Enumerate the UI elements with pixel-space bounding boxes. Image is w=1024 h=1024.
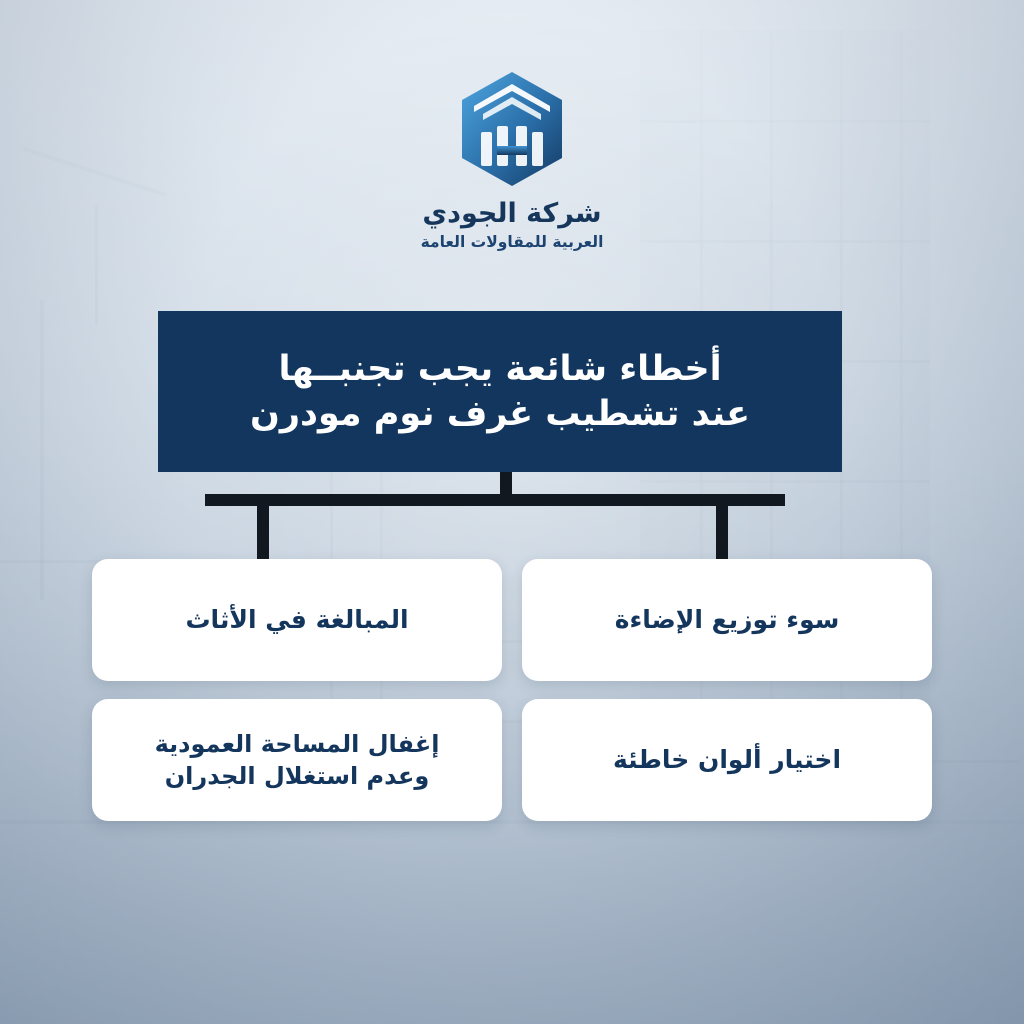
connector-drop-left xyxy=(716,504,728,560)
hexagon-building-monogram-icon xyxy=(457,70,567,188)
card-vertical-space[interactable]: إغفال المساحة العمودية وعدم استغلال الجد… xyxy=(92,699,502,821)
poster-canvas: شركة الجودي العربية للمقاولات العامة أخط… xyxy=(0,0,1024,1024)
connector-drop-right xyxy=(257,504,269,560)
brand-subtitle: العربية للمقاولات العامة xyxy=(421,233,604,251)
card-text: المبالغة في الأثاث xyxy=(185,603,408,637)
card-wrong-colors[interactable]: اختيار ألوان خاطئة xyxy=(522,699,932,821)
card-text: سوء توزيع الإضاءة xyxy=(615,603,840,637)
headline-line-2: عند تشطيب غرف نوم مودرن xyxy=(250,392,750,437)
headline-banner: أخطاء شائعة يجب تجنبــها عند تشطيب غرف ن… xyxy=(158,311,842,472)
card-row-1: سوء توزيع الإضاءة المبالغة في الأثاث xyxy=(92,559,932,681)
brand-name: شركة الجودي xyxy=(422,198,601,229)
brand-logo-block: شركة الجودي العربية للمقاولات العامة xyxy=(0,70,1024,251)
card-text-line-2: وعدم استغلال الجدران xyxy=(165,762,430,790)
card-text: إغفال المساحة العمودية وعدم استغلال الجد… xyxy=(155,728,440,792)
mistake-cards-grid: سوء توزيع الإضاءة المبالغة في الأثاث اخت… xyxy=(92,559,932,839)
connector-horizontal-bus xyxy=(205,494,785,506)
headline-line-1: أخطاء شائعة يجب تجنبــها xyxy=(278,347,721,392)
card-furniture-excess[interactable]: المبالغة في الأثاث xyxy=(92,559,502,681)
card-text-line-1: إغفال المساحة العمودية xyxy=(155,730,440,758)
card-text: اختيار ألوان خاطئة xyxy=(613,743,841,777)
card-lighting-distribution[interactable]: سوء توزيع الإضاءة xyxy=(522,559,932,681)
connector-stem xyxy=(500,472,512,496)
card-row-2: اختيار ألوان خاطئة إغفال المساحة العمودي… xyxy=(92,699,932,821)
